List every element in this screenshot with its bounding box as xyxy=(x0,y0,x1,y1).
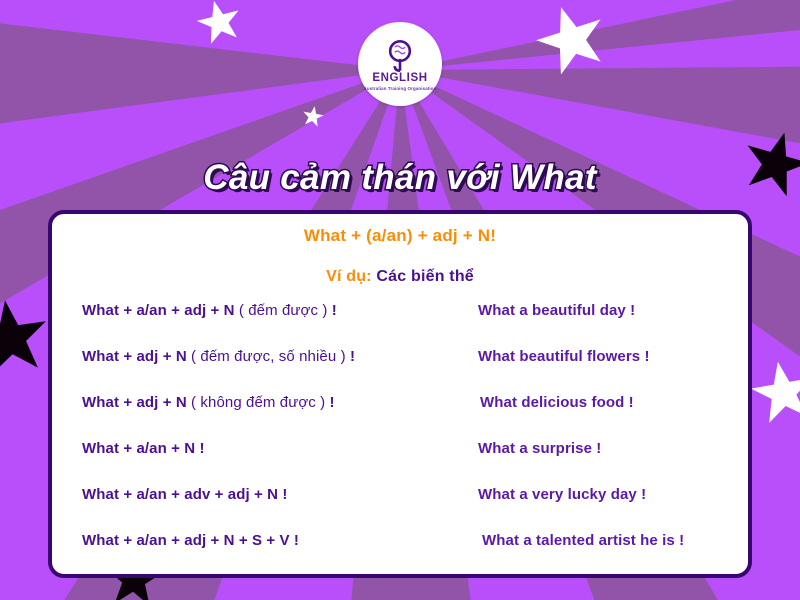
variant-row: What + a/an + N ! What a surprise ! xyxy=(82,440,748,486)
variant-example: What a talented artist he is ! xyxy=(478,532,748,549)
pattern-end: ! xyxy=(330,394,335,411)
variant-row: What + a/an + adj + N + S + V ! What a t… xyxy=(82,532,748,578)
logo-wordmark: ENGLISH xyxy=(372,73,427,85)
pattern-text: What + adj + N xyxy=(82,348,187,365)
variant-row: What + a/an + adj + N ( đếm được ) ! Wha… xyxy=(82,302,748,348)
examples-heading: Ví dụ: Các biến thể xyxy=(52,268,748,286)
pattern-note: ( đếm được, số nhiều ) xyxy=(187,348,350,365)
pattern-text: What + adj + N xyxy=(82,394,187,411)
pattern-end: ! xyxy=(350,348,355,365)
pattern-text: What + a/an + N ! xyxy=(82,440,205,457)
pattern-text: What + a/an + adj + N xyxy=(82,302,235,319)
variant-example: What beautiful flowers ! xyxy=(478,348,748,365)
infographic-canvas: ENGLISH Australian Training Organisation… xyxy=(0,0,800,600)
variant-pattern: What + a/an + adj + N ( đếm được ) ! xyxy=(82,302,478,319)
examples-label: Ví dụ: xyxy=(326,268,372,285)
variant-example: What delicious food ! xyxy=(478,394,748,411)
variant-example: What a surprise ! xyxy=(478,440,748,457)
variant-pattern: What + a/an + N ! xyxy=(82,440,478,457)
variant-row: What + a/an + adv + adj + N ! What a ver… xyxy=(82,486,748,532)
logo-tagline: Australian Training Organisation xyxy=(364,87,437,91)
pattern-note: ( đếm được ) xyxy=(235,302,332,319)
main-formula: What + (a/an) + adj + N! xyxy=(52,226,748,246)
brand-logo-badge: ENGLISH Australian Training Organisation xyxy=(358,22,442,106)
variant-pattern: What + adj + N ( đếm được, số nhiều ) ! xyxy=(82,348,478,365)
variant-pattern: What + a/an + adv + adj + N ! xyxy=(82,486,478,503)
variant-pattern: What + adj + N ( không đếm được ) ! xyxy=(82,394,478,411)
variant-example: What a very lucky day ! xyxy=(478,486,748,503)
content-card: What + (a/an) + adj + N! Ví dụ: Các biến… xyxy=(48,210,752,578)
examples-title: Các biến thể xyxy=(376,268,474,285)
pattern-text: What + a/an + adv + adj + N ! xyxy=(82,486,287,503)
q-monogram-icon xyxy=(380,38,420,72)
variant-row: What + adj + N ( đếm được, số nhiều ) ! … xyxy=(82,348,748,394)
variant-pattern: What + a/an + adj + N + S + V ! xyxy=(82,532,478,549)
page-title: Câu cảm thán với What xyxy=(0,159,800,198)
variant-example: What a beautiful day ! xyxy=(478,302,748,319)
pattern-end: ! xyxy=(332,302,337,319)
variant-row: What + adj + N ( không đếm được ) ! What… xyxy=(82,394,748,440)
pattern-text: What + a/an + adj + N + S + V ! xyxy=(82,532,299,549)
variants-list: What + a/an + adj + N ( đếm được ) ! Wha… xyxy=(52,302,748,578)
pattern-note: ( không đếm được ) xyxy=(187,394,330,411)
